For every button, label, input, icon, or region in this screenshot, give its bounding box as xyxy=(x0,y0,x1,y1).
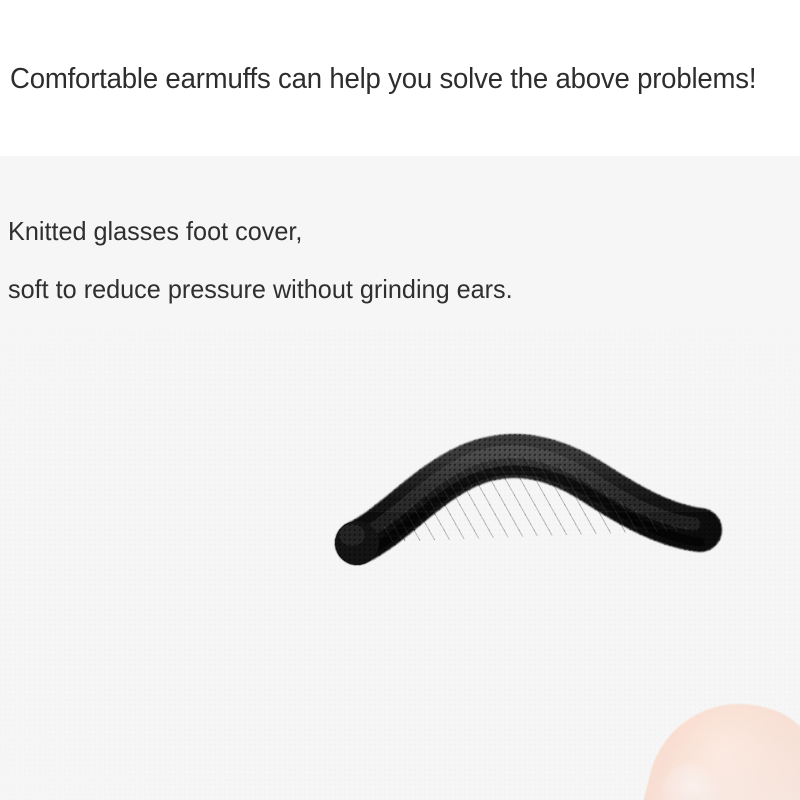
subcopy-block: Knitted glasses foot cover, soft to redu… xyxy=(8,202,687,318)
subcopy-line-2: soft to reduce pressure without grinding… xyxy=(8,260,687,318)
sleeve-left-tip-sheen xyxy=(339,524,365,546)
page-headline: Comfortable earmuffs can help you solve … xyxy=(10,62,761,96)
product-marketing-image: Comfortable earmuffs can help you solve … xyxy=(0,0,800,800)
subcopy-line-1: Knitted glasses foot cover, xyxy=(8,216,302,246)
product-photo xyxy=(0,330,800,800)
